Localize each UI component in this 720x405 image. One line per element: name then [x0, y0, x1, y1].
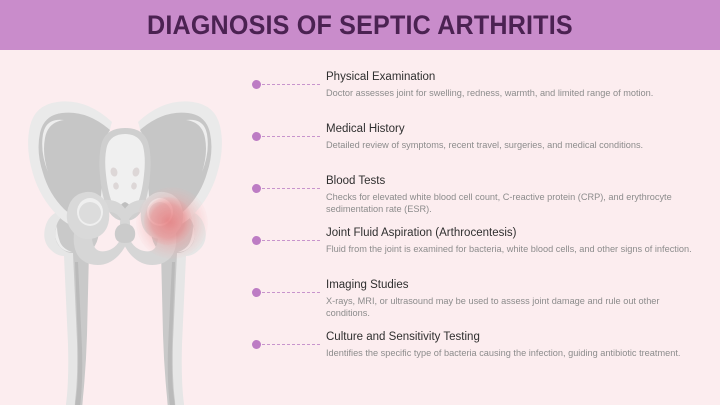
bullet-connector [252, 340, 320, 349]
step-heading: Imaging Studies [326, 278, 704, 293]
step-heading: Joint Fluid Aspiration (Arthrocentesis) [326, 226, 704, 241]
step-body: Physical Examination Doctor assesses joi… [326, 70, 704, 99]
step-description: Identifies the specific type of bacteria… [326, 347, 704, 359]
step-body: Joint Fluid Aspiration (Arthrocentesis) … [326, 226, 704, 255]
list-item[interactable]: Physical Examination Doctor assesses joi… [252, 70, 704, 122]
step-body: Imaging Studies X-rays, MRI, or ultrasou… [326, 278, 704, 319]
dashed-line-icon [262, 344, 320, 345]
list-item[interactable]: Imaging Studies X-rays, MRI, or ultrasou… [252, 278, 704, 330]
dashed-line-icon [262, 292, 320, 293]
page-title: DIAGNOSIS OF SEPTIC ARTHRITIS [147, 10, 573, 41]
list-item[interactable]: Joint Fluid Aspiration (Arthrocentesis) … [252, 226, 704, 278]
step-description: Detailed review of symptoms, recent trav… [326, 139, 704, 151]
dashed-line-icon [262, 84, 320, 85]
list-item[interactable]: Blood Tests Checks for elevated white bl… [252, 174, 704, 226]
step-body: Culture and Sensitivity Testing Identifi… [326, 330, 704, 359]
step-description: Doctor assesses joint for swelling, redn… [326, 87, 704, 99]
inflammation-glow [136, 187, 208, 259]
step-description: Fluid from the joint is examined for bac… [326, 243, 704, 255]
dashed-line-icon [262, 188, 320, 189]
bullet-connector [252, 236, 320, 245]
step-description: X-rays, MRI, or ultrasound may be used t… [326, 295, 704, 319]
step-body: Blood Tests Checks for elevated white bl… [326, 174, 704, 215]
bullet-dot-icon [252, 132, 261, 141]
bullet-connector [252, 80, 320, 89]
step-heading: Medical History [326, 122, 704, 137]
dashed-line-icon [262, 240, 320, 241]
bullet-connector [252, 132, 320, 141]
step-body: Medical History Detailed review of sympt… [326, 122, 704, 151]
slide-canvas: DIAGNOSIS OF SEPTIC ARTHRITIS [0, 0, 720, 405]
step-heading: Blood Tests [326, 174, 704, 189]
bullet-dot-icon [252, 236, 261, 245]
dashed-line-icon [262, 136, 320, 137]
bullet-dot-icon [252, 184, 261, 193]
step-description: Checks for elevated white blood cell cou… [326, 191, 704, 215]
bullet-connector [252, 288, 320, 297]
step-heading: Culture and Sensitivity Testing [326, 330, 704, 345]
bullet-dot-icon [252, 340, 261, 349]
pelvis-illustration [0, 50, 250, 405]
list-item[interactable]: Medical History Detailed review of sympt… [252, 122, 704, 174]
step-heading: Physical Examination [326, 70, 704, 85]
bullet-dot-icon [252, 288, 261, 297]
bullet-connector [252, 184, 320, 193]
header-band: DIAGNOSIS OF SEPTIC ARTHRITIS [0, 0, 720, 50]
bullet-dot-icon [252, 80, 261, 89]
steps-list: Physical Examination Doctor assesses joi… [252, 70, 704, 330]
